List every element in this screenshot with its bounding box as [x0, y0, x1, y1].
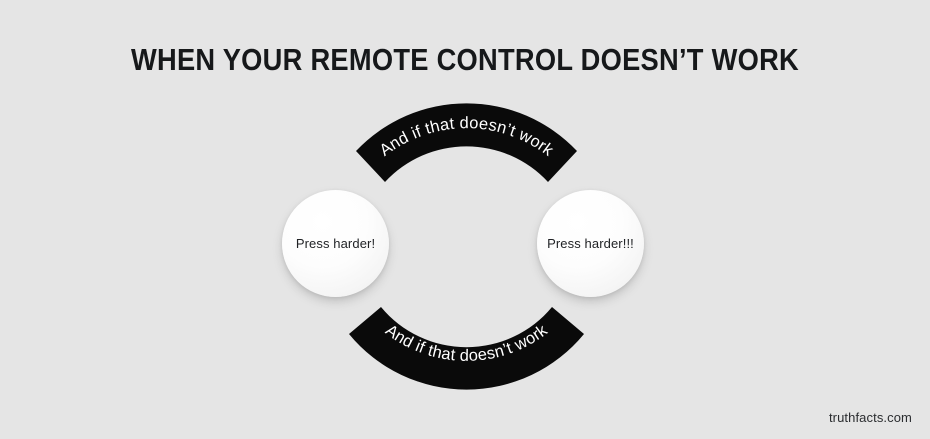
- node-press-harder-right: Press harder!!!: [537, 190, 644, 297]
- cycle-diagram: And if that doesn’t work And if that doe…: [0, 0, 930, 439]
- comic-canvas: WHEN YOUR REMOTE CONTROL DOESN’T WORK An…: [0, 0, 930, 439]
- source-watermark: truthfacts.com: [829, 410, 912, 425]
- node-press-harder-left: Press harder!: [282, 190, 389, 297]
- node-right-label: Press harder!!!: [547, 236, 634, 251]
- node-left-label: Press harder!: [296, 236, 375, 251]
